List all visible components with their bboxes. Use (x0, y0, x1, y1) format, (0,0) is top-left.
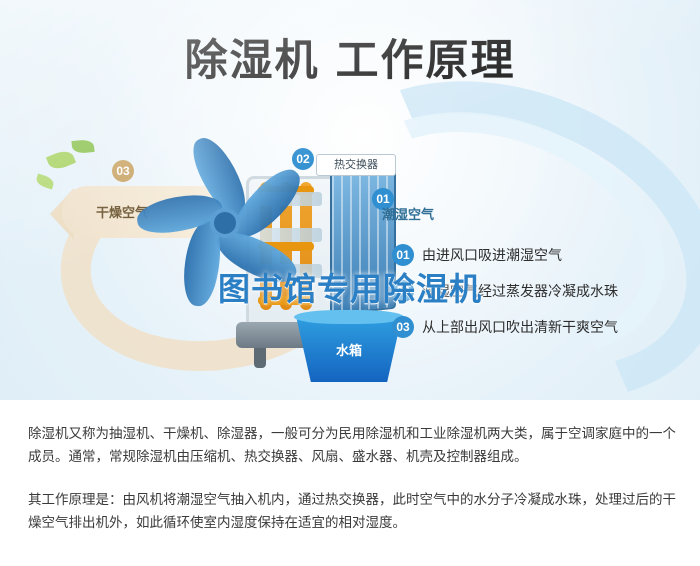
coil-bar (258, 296, 314, 305)
coil-bar (258, 242, 314, 251)
badge-03: 03 (112, 160, 134, 182)
dry-air-arrow-icon (50, 188, 74, 240)
fan-blade (185, 131, 255, 223)
list-item: 01 由进风口吸进潮湿空气 (392, 244, 688, 266)
humid-air-label: 潮湿空气 (382, 204, 434, 223)
fan-blade (134, 190, 225, 238)
dry-airflow-arc (46, 129, 384, 390)
step-number: 02 (392, 280, 414, 302)
fan-blade (179, 218, 225, 308)
step-text: 潮湿空气经过蒸发器冷凝成水珠 (422, 281, 618, 301)
condenser-coil (258, 182, 324, 310)
heat-exchanger-label: 热交换器 (316, 154, 396, 176)
step-text: 从上部出风口吹出清新干爽空气 (422, 317, 618, 337)
leaf-icon (46, 148, 76, 173)
title-part1: 除湿机 (185, 37, 320, 85)
fan-blade (210, 223, 302, 291)
leaf-icon (71, 139, 94, 154)
dry-air-band (62, 186, 252, 238)
evaporator-fins (332, 167, 394, 314)
water-tank (296, 316, 402, 382)
machine-leg (254, 348, 266, 368)
humid-airflow-arc-inner (301, 69, 699, 400)
humid-airflow-arc (260, 23, 700, 400)
coil-pipe (300, 182, 312, 310)
title-part2: 工作原理 (336, 37, 516, 85)
machine-leg (358, 348, 370, 368)
step-list: 01 由进风口吸进潮湿空气 02 潮湿空气经过蒸发器冷凝成水珠 03 从上部出风… (392, 244, 688, 352)
evaporator-block (330, 165, 396, 316)
coil-fin (260, 192, 322, 206)
leaf-icon (35, 173, 56, 189)
poster-page: 除湿机工作原理 干燥空气 热交换器 (0, 0, 700, 566)
fan-blade (225, 161, 309, 246)
badge-02: 02 (292, 148, 314, 170)
water-tank-label: 水箱 (296, 340, 402, 359)
badge-01: 01 (372, 188, 394, 210)
page-title: 除湿机工作原理 (0, 26, 700, 88)
overlay-title: 图书馆专用除湿机 (0, 264, 700, 310)
dehumidifier-body (246, 176, 382, 332)
coil-pipe (280, 182, 292, 310)
step-text: 由进风口吸进潮湿空气 (422, 245, 562, 265)
description-section: 除湿机又称为抽湿机、干燥机、除湿器，一般可分为民用除湿机和工业除湿机两大类，属于… (0, 400, 700, 566)
step-number: 01 (392, 244, 414, 266)
coil-pipe (260, 182, 272, 310)
water-tank-rim (294, 310, 404, 324)
fan-hub (214, 212, 236, 234)
coil-bar (258, 186, 314, 195)
description-paragraph-1: 除湿机又称为抽湿机、干燥机、除湿器，一般可分为民用除湿机和工业除湿机两大类，属于… (28, 422, 676, 468)
description-paragraph-2: 其工作原理是：由风机将潮湿空气抽入机内，通过热交换器，此时空气中的水分子冷凝成水… (28, 488, 676, 534)
coil-fin (260, 264, 322, 278)
machine-base (236, 322, 386, 348)
dry-air-label: 干燥空气 (96, 202, 148, 221)
step-number: 03 (392, 316, 414, 338)
list-item: 03 从上部出风口吹出清新干爽空气 (392, 316, 688, 338)
list-item: 02 潮湿空气经过蒸发器冷凝成水珠 (392, 280, 688, 302)
diagram-hero: 除湿机工作原理 干燥空气 热交换器 (0, 0, 700, 400)
coil-fin (260, 228, 322, 242)
